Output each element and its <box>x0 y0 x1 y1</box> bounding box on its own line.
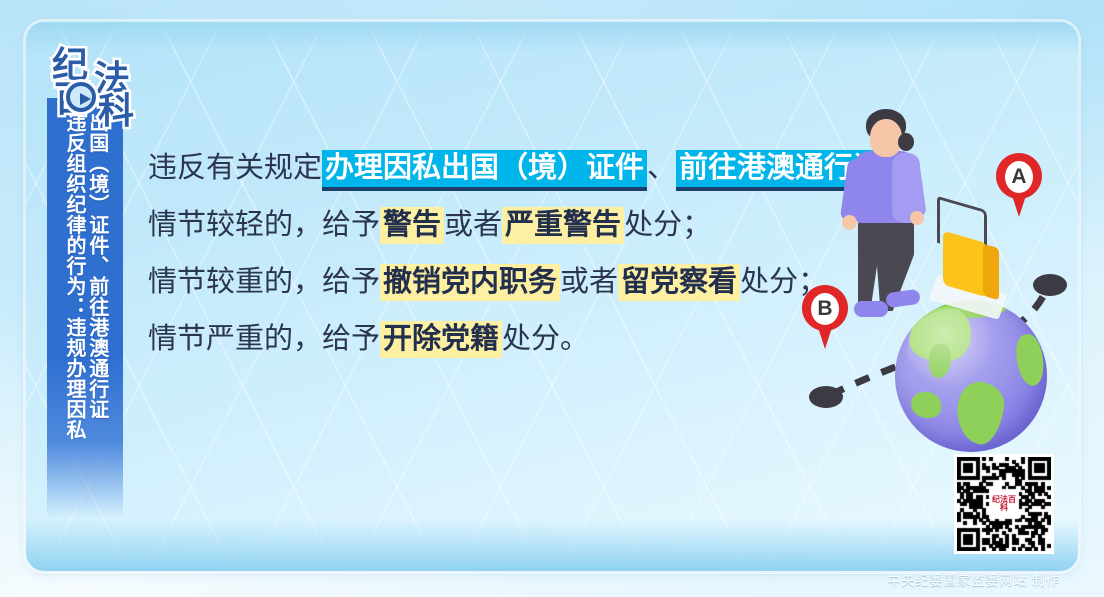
map-pin-b-label: B <box>811 293 839 325</box>
body-line: 情节严重的，给予开除党籍处分。 <box>148 311 848 368</box>
banner-column-right: 出国（境）证件、前往港澳通行证 <box>86 112 107 518</box>
logo-char-ke: 科 <box>98 82 134 134</box>
plain-text: 或者 <box>444 209 502 241</box>
credit-text: 中央纪委国家监委网站 制作 <box>887 570 1060 589</box>
map-pin-a: A <box>996 153 1048 221</box>
body-text-block: 违反有关规定办理因私出国（境）证件、前往港澳通行证， 情节较轻的，给予警告或者严… <box>148 140 848 368</box>
highlight-yellow: 开除党籍 <box>380 321 502 358</box>
map-pin-b: B <box>802 285 854 353</box>
bottom-gradient-band <box>26 519 1078 571</box>
suitcase-icon <box>943 237 1005 299</box>
highlight-yellow: 警告 <box>380 207 444 244</box>
travel-illustration: A B <box>800 95 1100 455</box>
plain-text: 处分； <box>624 209 711 241</box>
body-line: 情节较重的，给予撤销党内职务或者留党察看处分； <box>148 254 848 311</box>
vertical-title-banner: 出国（境）证件、前往港澳通行证 违反组织纪律的行为：违规办理因私 <box>47 98 123 518</box>
highlight-yellow: 留党察看 <box>618 264 740 301</box>
plain-text: 情节严重的，给予 <box>148 323 380 355</box>
poster-canvas: 出国（境）证件、前往港澳通行证 违反组织纪律的行为：违规办理因私 纪 法 百 科… <box>0 0 1104 597</box>
brand-logo: 纪 法 百 科 <box>52 38 170 118</box>
plain-text: 或者 <box>560 266 618 298</box>
qr-center-logo: 纪法百科 <box>990 490 1018 518</box>
plain-text: 处分。 <box>502 323 589 355</box>
highlight-cyan: 办理因私出国（境）证件 <box>322 150 647 191</box>
banner-column-left: 违反组织纪律的行为：违规办理因私 <box>63 112 84 518</box>
play-circle-icon <box>66 82 96 112</box>
top-gradient-band <box>26 22 1078 52</box>
body-line: 违反有关规定办理因私出国（境）证件、前往港澳通行证， <box>148 140 848 197</box>
body-line: 情节较轻的，给予警告或者严重警告处分； <box>148 197 848 254</box>
highlight-yellow: 撤销党内职务 <box>380 264 560 301</box>
plain-text: 、 <box>647 152 676 184</box>
qr-code[interactable]: 纪法百科 <box>954 454 1054 554</box>
highlight-yellow: 严重警告 <box>502 207 624 244</box>
map-pin-a-label: A <box>1005 161 1033 193</box>
plain-text: 情节较轻的，给予 <box>148 209 380 241</box>
plain-text: 情节较重的，给予 <box>148 266 380 298</box>
plain-text: 违反有关规定 <box>148 152 322 184</box>
